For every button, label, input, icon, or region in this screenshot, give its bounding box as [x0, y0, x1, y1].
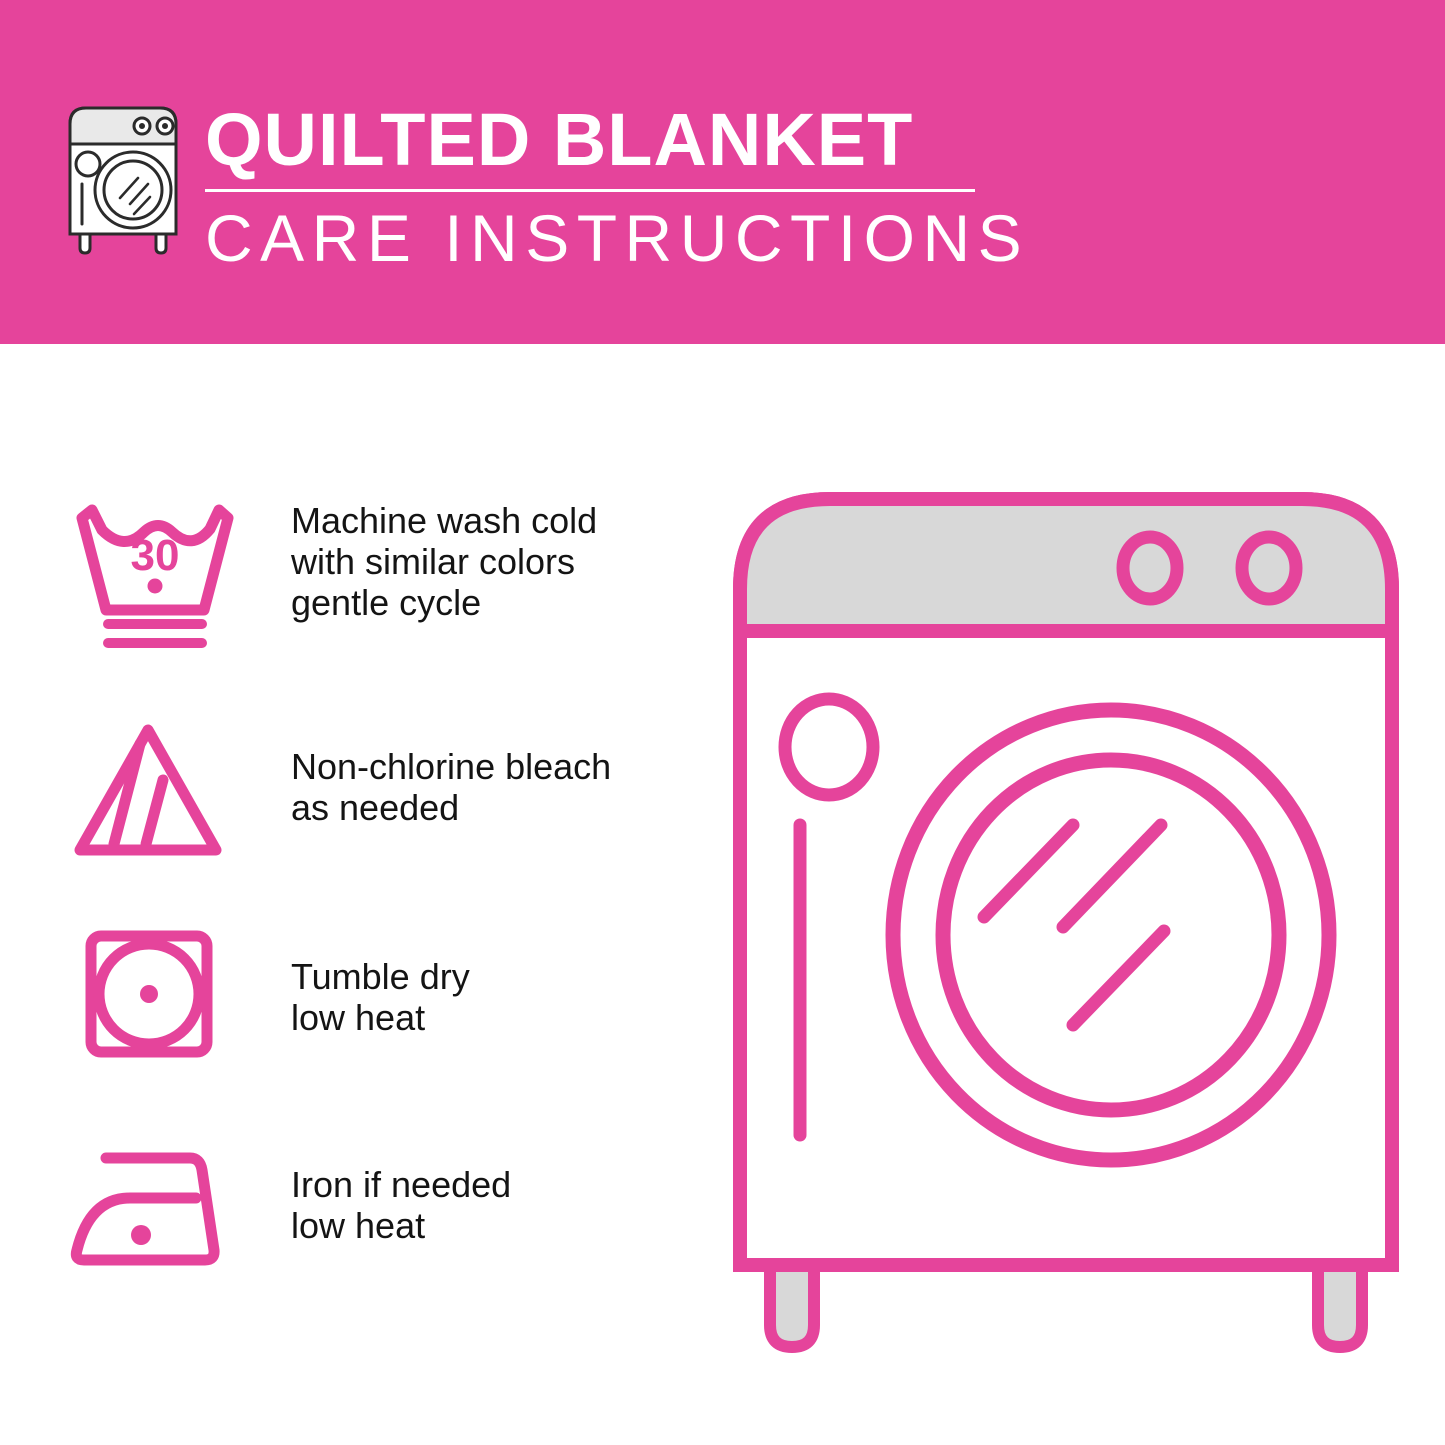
- care-row-tumble-dry: Tumble dry low heat: [0, 894, 700, 1102]
- care-row-machine-wash: 30 Machine wash cold with similar colors…: [0, 478, 700, 686]
- header-banner: QUILTED BLANKET CARE INSTRUCTIONS: [0, 0, 1445, 344]
- front-load-washing-machine-illustration: [726, 485, 1406, 1365]
- care-label-tumble-dry: Tumble dry low heat: [291, 956, 691, 1038]
- care-label-line: Tumble dry: [291, 956, 691, 997]
- iron-low-heat-icon: [68, 1142, 233, 1302]
- care-label-line: gentle cycle: [291, 582, 691, 623]
- care-label-line: Machine wash cold: [291, 500, 691, 541]
- care-label-line: low heat: [291, 1205, 691, 1246]
- header-text-block: QUILTED BLANKET CARE INSTRUCTIONS: [205, 100, 995, 275]
- wash-tub-30-gentle-icon: 30: [72, 496, 237, 656]
- care-label-line: as needed: [291, 787, 691, 828]
- page-subtitle: CARE INSTRUCTIONS: [205, 201, 995, 275]
- machine-dial: [785, 699, 873, 795]
- title-divider: [205, 189, 975, 192]
- care-label-line: low heat: [291, 997, 691, 1038]
- care-row-bleach: Non-chlorine bleach as needed: [0, 686, 700, 894]
- care-instruction-list: 30 Machine wash cold with similar colors…: [0, 478, 700, 1310]
- care-label-machine-wash: Machine wash cold with similar colors ge…: [291, 500, 691, 623]
- page-title: QUILTED BLANKET: [205, 100, 995, 180]
- care-label-line: Non-chlorine bleach: [291, 746, 691, 787]
- machine-door-inner-ring: [943, 760, 1279, 1110]
- machine-knob-right: [1242, 537, 1296, 599]
- care-label-line: with similar colors: [291, 541, 691, 582]
- washing-machine-icon: [58, 98, 188, 256]
- machine-knob-left: [1123, 537, 1177, 599]
- non-chlorine-bleach-triangle-icon: [68, 716, 233, 876]
- care-row-iron: Iron if needed low heat: [0, 1102, 700, 1310]
- machine-leg-right: [1318, 1265, 1362, 1347]
- tumble-dry-low-icon: [82, 926, 216, 1062]
- care-label-line: Iron if needed: [291, 1164, 691, 1205]
- machine-leg-left: [770, 1265, 814, 1347]
- wash-temperature-value: 30: [131, 531, 180, 580]
- infographic-canvas: QUILTED BLANKET CARE INSTRUCTIONS 30 Mac…: [0, 0, 1445, 1445]
- care-label-iron: Iron if needed low heat: [291, 1164, 691, 1246]
- care-label-bleach: Non-chlorine bleach as needed: [291, 746, 691, 828]
